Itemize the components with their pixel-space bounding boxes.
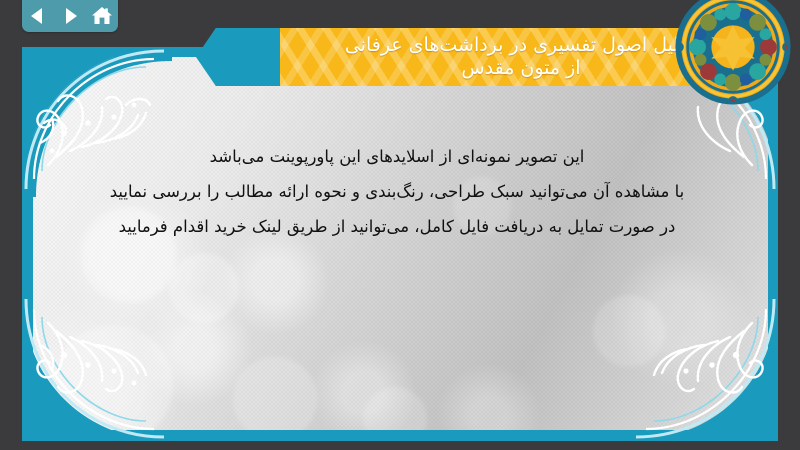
persian-mandala-medallion-icon <box>674 0 792 106</box>
next-slide-button[interactable] <box>57 3 83 29</box>
triangle-right-icon <box>59 5 81 27</box>
slide-viewer-window: این تصویر نمونه‌ای از اسلایدهای این پاور… <box>0 0 800 450</box>
banner-arrow-tab <box>196 28 286 86</box>
slide-title-banner: تحلیل اصول تفسیری در برداشت‌های عرفانی ا… <box>196 18 756 96</box>
title-line-2: از متون مقدس <box>461 57 580 80</box>
home-button[interactable] <box>89 3 115 29</box>
body-line-1: این تصویر نمونه‌ای از اسلایدهای این پاور… <box>62 139 732 174</box>
slide-navigation-panel <box>22 0 118 32</box>
title-line-1: تحلیل اصول تفسیری در برداشت‌های عرفانی <box>345 34 697 57</box>
slide-body-text: این تصویر نمونه‌ای از اسلایدهای این پاور… <box>62 139 732 244</box>
bokeh-circle <box>169 253 239 323</box>
triangle-left-icon <box>27 5 49 27</box>
slide-canvas[interactable]: این تصویر نمونه‌ای از اسلایدهای این پاور… <box>22 47 778 441</box>
previous-slide-button[interactable] <box>25 3 51 29</box>
body-line-2: با مشاهده آن می‌توانید سبک طراحی، رنگ‌بن… <box>62 174 732 209</box>
bokeh-circle <box>593 295 665 367</box>
home-icon <box>90 4 114 28</box>
body-line-3: در صورت تمایل به دریافت فایل کامل، می‌تو… <box>62 209 732 244</box>
